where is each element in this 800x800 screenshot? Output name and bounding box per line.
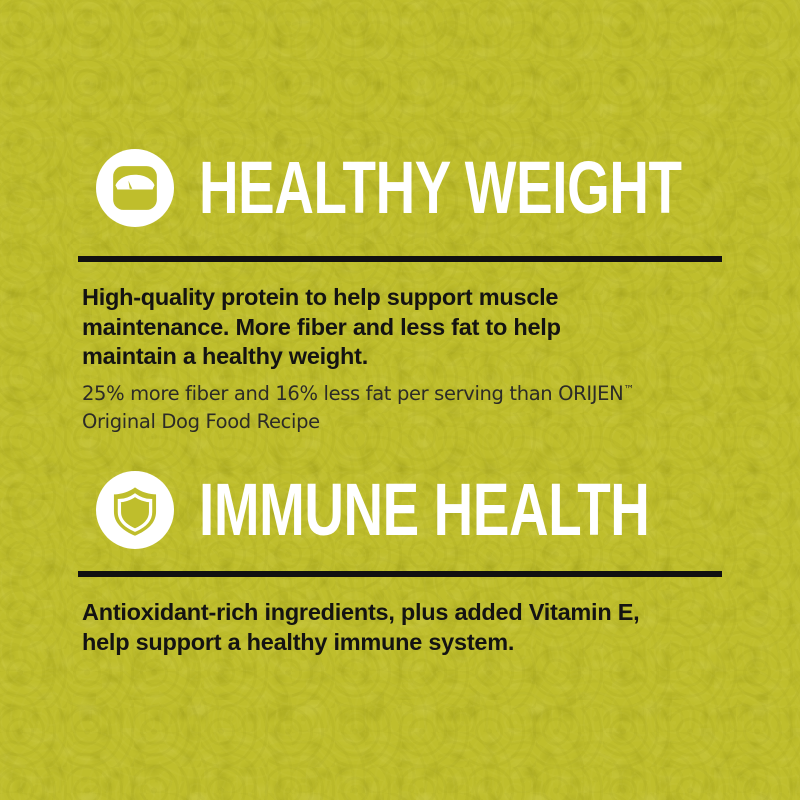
product-benefits-panel: HEALTHY WEIGHT High-quality protein to h…: [0, 0, 800, 800]
footnote-text-tail: Original Dog Food Recipe: [82, 410, 320, 433]
benefit-body-immune-health: Antioxidant-rich ingredients, plus added…: [82, 598, 742, 657]
benefit-section-healthy-weight: HEALTHY WEIGHT: [0, 140, 800, 236]
section-title-immune-health: IMMUNE HEALTH: [199, 473, 649, 547]
shield-icon: [96, 471, 174, 549]
footnote-text-main: 25% more fiber and 16% less fat per serv…: [82, 382, 623, 405]
panel-content: HEALTHY WEIGHT High-quality protein to h…: [0, 0, 800, 800]
divider-immune-health: [78, 571, 722, 577]
divider-healthy-weight: [78, 256, 722, 262]
benefit-footnote-healthy-weight: 25% more fiber and 16% less fat per serv…: [82, 376, 742, 436]
benefit-section-immune-health: IMMUNE HEALTH: [0, 462, 800, 558]
section-header-immune-health: IMMUNE HEALTH: [0, 462, 800, 558]
section-title-healthy-weight: HEALTHY WEIGHT: [199, 151, 682, 225]
benefit-body-healthy-weight: High-quality protein to help support mus…: [82, 283, 742, 436]
section-header-healthy-weight: HEALTHY WEIGHT: [0, 140, 800, 236]
benefit-headline-immune-health: Antioxidant-rich ingredients, plus added…: [82, 598, 742, 657]
benefit-headline-healthy-weight: High-quality protein to help support mus…: [82, 283, 742, 372]
trademark-symbol: ™: [623, 383, 634, 396]
weight-scale-icon: [96, 149, 174, 227]
